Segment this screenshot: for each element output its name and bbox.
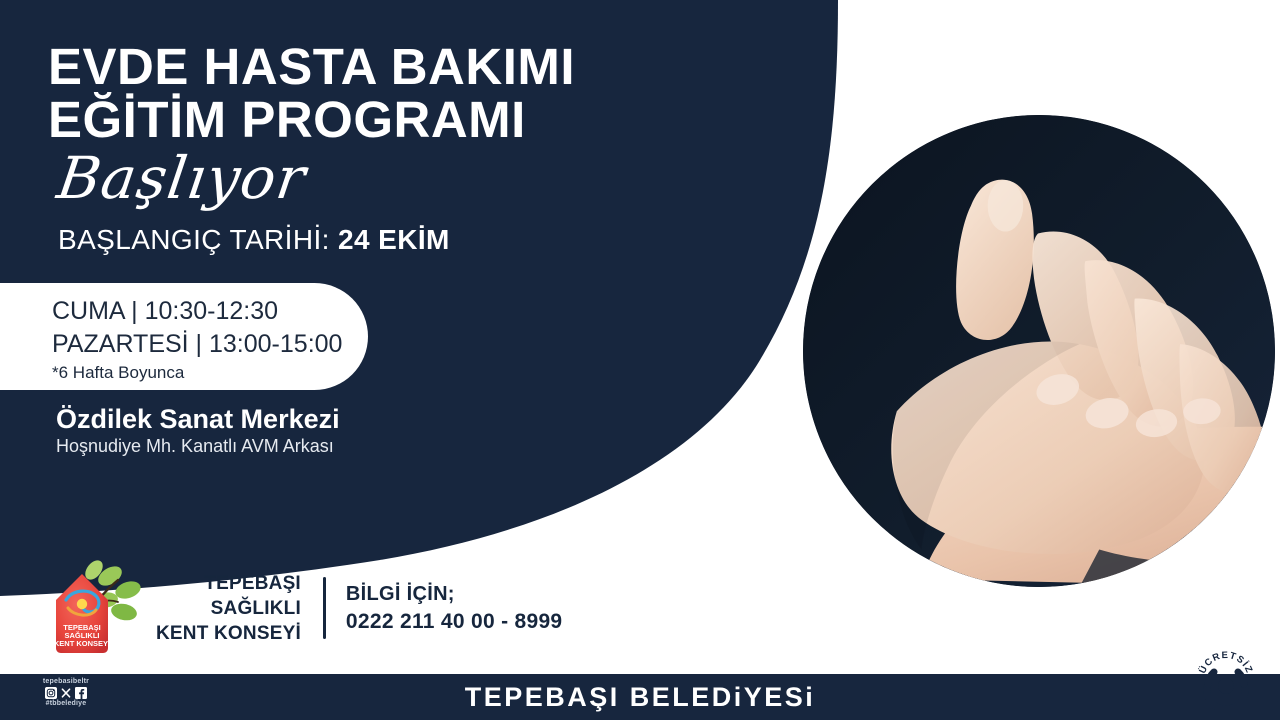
logo-wordmark: TEPEBAŞI SAĞLIKLI KENT KONSEYİ xyxy=(156,571,301,646)
instagram-icon[interactable] xyxy=(45,687,57,699)
social-media-strip: tepebasibeltr xyxy=(22,670,110,716)
headline-block: EVDE HASTA BAKIMI EĞİTİM PROGRAMI Başlıy… xyxy=(48,40,575,256)
headline-line-2: EĞİTİM PROGRAMI xyxy=(48,93,575,146)
social-hashtag: #tbbelediye xyxy=(46,700,87,708)
footer-logo-row: TEPEBAŞI SAĞLIKLI KENT KONSEYİ TEPEBAŞI … xyxy=(44,556,562,660)
schedule-row-friday: CUMA | 10:30-12:30 xyxy=(52,295,368,328)
headline-line-1: EVDE HASTA BAKIMI xyxy=(48,40,575,93)
logo-mark-line-3: KENT KONSEYİ xyxy=(54,639,110,648)
ucretsiz-badge-text: ÜCRETSİZ xyxy=(1197,650,1255,676)
municipality-title: TEPEBAŞI BELEDiYESi xyxy=(465,682,816,713)
venue-name: Özdilek Sanat Merkezi xyxy=(56,404,340,435)
schedule-pill: CUMA | 10:30-12:30 PAZARTESİ | 13:00-15:… xyxy=(0,283,368,390)
start-date-line: BAŞLANGIÇ TARİHİ: 24 EKİM xyxy=(58,224,575,256)
hands-photo xyxy=(800,112,1278,590)
schedule-row-monday: PAZARTESİ | 13:00-15:00 xyxy=(52,328,368,361)
footer-bar: TEPEBAŞI BELEDiYESi xyxy=(0,674,1280,720)
contact-label: BİLGİ İÇİN; xyxy=(346,581,563,608)
contact-block: BİLGİ İÇİN; 0222 211 40 00 - 8999 xyxy=(346,581,563,636)
logo-text-line-3: KENT KONSEYİ xyxy=(156,621,301,646)
facebook-icon[interactable] xyxy=(75,687,87,699)
x-twitter-icon[interactable] xyxy=(60,687,72,699)
headline-script-word: Başlıyor xyxy=(54,148,310,208)
venue-block: Özdilek Sanat Merkezi Hoşnudiye Mh. Kana… xyxy=(56,404,340,457)
ucretsiz-badge: ÜCRETSİZ xyxy=(1194,646,1258,710)
venue-address: Hoşnudiye Mh. Kanatlı AVM Arkası xyxy=(56,436,340,457)
social-handle: tepebasibeltr xyxy=(43,678,89,686)
vertical-divider xyxy=(323,577,326,639)
start-date-label: BAŞLANGIÇ TARİHİ: xyxy=(58,224,330,255)
kent-konseyi-logo-icon: TEPEBAŞI SAĞLIKLI KENT KONSEYİ xyxy=(44,556,148,660)
social-icons-group xyxy=(45,687,87,699)
logo-text-line-1: TEPEBAŞI xyxy=(156,571,301,596)
schedule-note: *6 Hafta Boyunca xyxy=(52,363,368,383)
contact-phone[interactable]: 0222 211 40 00 - 8999 xyxy=(346,608,563,636)
poster-canvas: EVDE HASTA BAKIMI EĞİTİM PROGRAMI Başlıy… xyxy=(0,0,1280,720)
start-date-value: 24 EKİM xyxy=(338,224,450,255)
logo-text-line-2: SAĞLIKLI xyxy=(156,596,301,621)
